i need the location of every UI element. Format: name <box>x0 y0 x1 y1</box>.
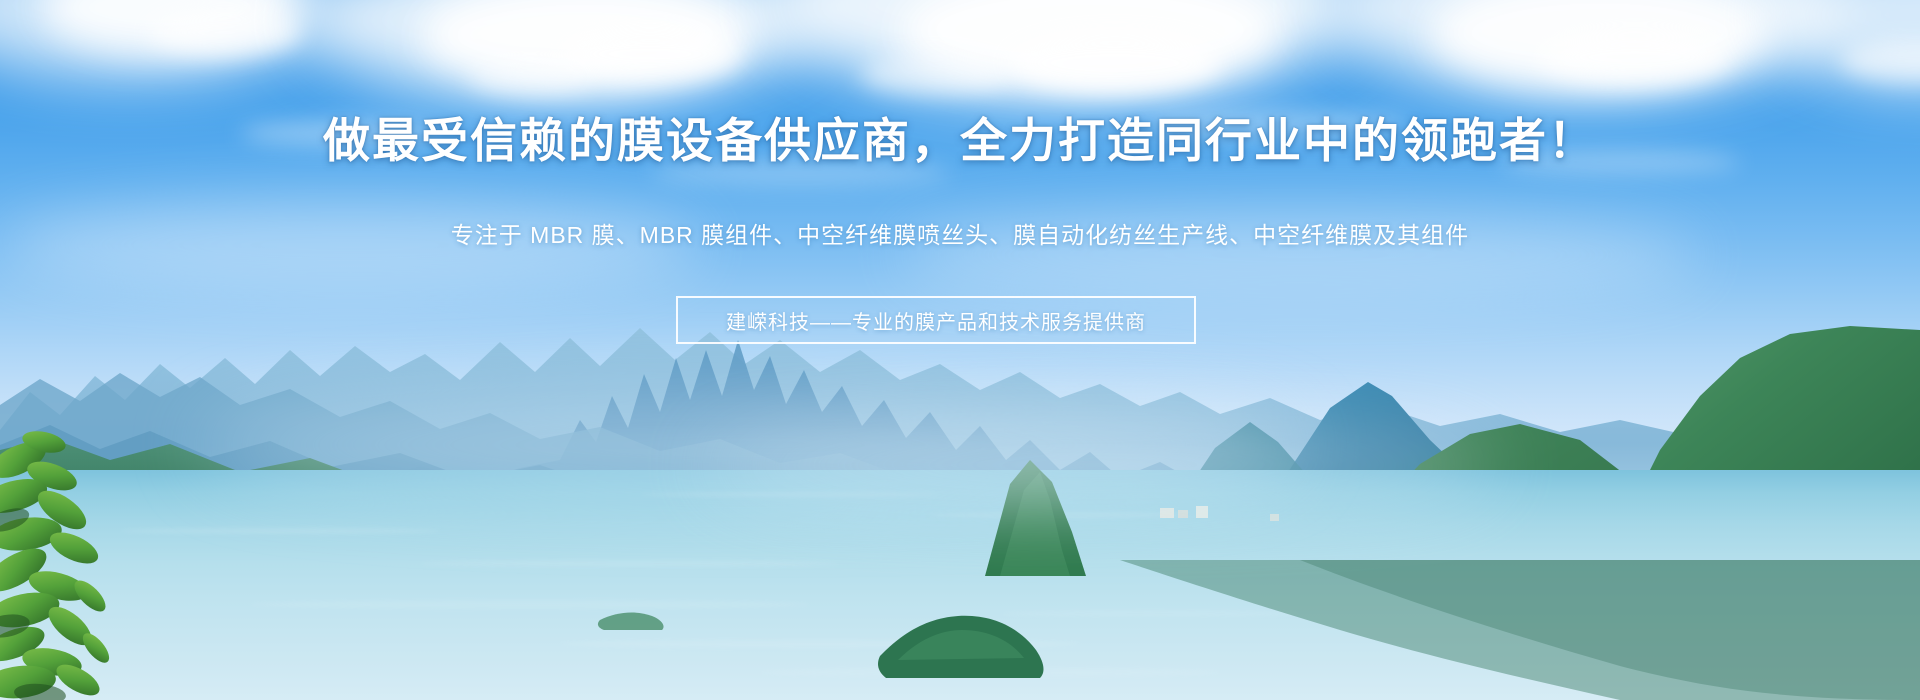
banner-tagline-box: 建嵘科技——专业的膜产品和技术服务提供商 <box>676 296 1196 344</box>
banner-subtitle: 专注于 MBR 膜、MBR 膜组件、中空纤维膜喷丝头、膜自动化纺丝生产线、中空纤… <box>0 219 1920 251</box>
horizon-haze-2 <box>700 430 1500 500</box>
banner-headline: 做最受信赖的膜设备供应商，全力打造同行业中的领跑者！ <box>0 112 1920 170</box>
hero-banner: 做最受信赖的膜设备供应商，全力打造同行业中的领跑者！ 专注于 MBR 膜、MBR… <box>0 0 1920 700</box>
banner-tagline-text: 建嵘科技——专业的膜产品和技术服务提供商 <box>726 306 1146 335</box>
